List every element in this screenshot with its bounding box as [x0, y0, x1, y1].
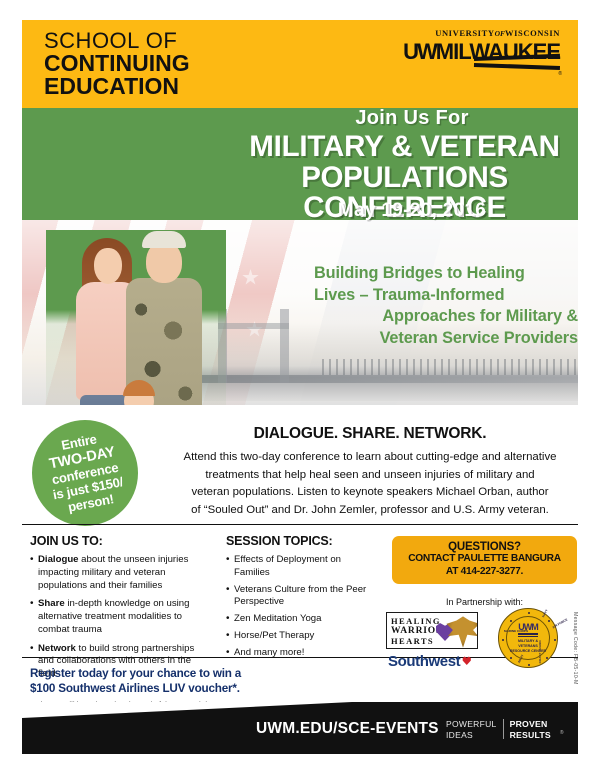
- uwm-registered-mark: ®: [558, 71, 562, 77]
- list-item: Veterans Culture from the Peer Perspecti…: [226, 584, 376, 610]
- sce-logo-line1: SCHOOL OF: [44, 30, 190, 52]
- message-code-label: Message Code: FB-05-10-M: [566, 612, 578, 712]
- footer-tag1-line1: POWERFUL: [446, 719, 497, 730]
- healing-warrior-hearts-logo: HEALING WARRIOR HEARTS: [386, 612, 478, 649]
- list-item: Horse/Pet Therapy: [226, 630, 376, 643]
- footer-tagline: POWERFUL IDEAS PROVEN RESULTS ®: [446, 719, 564, 741]
- bridge-deck: [172, 375, 578, 383]
- join-item-3-bold: Network: [38, 643, 76, 654]
- register-line-2: $100 Southwest Airlines LUV voucher*.: [30, 681, 310, 696]
- seal-branch-3: NAVY: [541, 609, 548, 618]
- hwh-line-1: HEALING: [391, 616, 453, 626]
- sce-logo-line3: EDUCATION: [44, 75, 190, 98]
- conference-date: May 19-20, 2016: [237, 200, 578, 222]
- list-item: Effects of Deployment on Families: [226, 554, 376, 580]
- uw-word-wisconsin: WISCONSIN: [505, 28, 560, 38]
- school-of-continuing-education-logo: SCHOOL OF CONTINUING EDUCATION: [44, 30, 190, 98]
- list-item: Dialogue about the unseen injuries impac…: [30, 554, 210, 592]
- southwest-heart-icon: [462, 656, 471, 665]
- questions-contact-box: QUESTIONS? CONTACT PAULETTE BANGURA AT 4…: [392, 536, 577, 584]
- header-band: SCHOOL OF CONTINUING EDUCATION UNIVERSIT…: [22, 20, 578, 108]
- military-family-photo: [46, 230, 226, 405]
- uw-word-university: UNIVERSITY: [435, 28, 494, 38]
- uwm-military-veterans-resource-center-seal: MARINE CORPS ARMY NAVY AIR FORCE COAST G…: [498, 608, 558, 668]
- divider-top: [22, 524, 578, 525]
- tagline-line-4: Veteran Service Providers: [314, 328, 578, 350]
- footer-tag2-line1: PROVEN: [510, 719, 551, 730]
- university-of-wisconsin-line: UNIVERSITYofWISCONSIN: [410, 28, 560, 38]
- tagline-line-1: Building Bridges to Healing: [314, 263, 578, 285]
- intro-line-4: of “Souled Out” and Dr. John Zemler, pro…: [150, 502, 590, 520]
- price-burst-badge: Entire TWO-DAY conference is just $150/ …: [23, 411, 147, 535]
- join-us-to-list: Dialogue about the unseen injuries impac…: [30, 554, 210, 681]
- uwm-logo-bars-icon: [474, 57, 560, 70]
- footer-powerful-ideas: POWERFUL IDEAS: [446, 719, 497, 740]
- questions-contact-phone: AT 414-227-3277.: [392, 566, 577, 579]
- uw-monogram: UW: [403, 39, 436, 65]
- footer-registered-mark: ®: [560, 730, 564, 736]
- seal-subtitle: MILITARY & VETERANS RESOURCE CENTER: [508, 639, 548, 654]
- intro-paragraph: Attend this two-day conference to learn …: [150, 449, 590, 520]
- in-partnership-with-label: In Partnership with:: [392, 597, 577, 607]
- seal-uwm-bars-icon: [518, 632, 538, 637]
- register-line-1: Register today for your chance to win a: [30, 666, 310, 681]
- conference-tagline: Building Bridges to Healing Lives – Trau…: [314, 263, 578, 349]
- southwest-airlines-logo: Southwest: [388, 653, 498, 671]
- bridge-tower-right: [280, 309, 289, 383]
- intro-line-1: Attend this two-day conference to learn …: [150, 449, 590, 467]
- join-item-2-bold: Share: [38, 598, 65, 609]
- session-topics-heading: SESSION TOPICS:: [226, 534, 376, 548]
- session-topics-list: Effects of Deployment on Families Vetera…: [226, 554, 376, 659]
- flyer-page: Join Us For MILITARY & VETERAN POPULATIO…: [0, 0, 600, 776]
- sce-logo-line2: CONTINUING: [44, 52, 190, 75]
- southwest-wordmark: Southwest: [388, 653, 460, 670]
- join-item-1-bold: Dialogue: [38, 554, 79, 565]
- footer-tag1-line2: IDEAS: [446, 730, 497, 741]
- join-us-to-column: JOIN US TO: Dialogue about the unseen in…: [30, 534, 210, 687]
- intro-line-3: veteran populations. Listen to keynote s…: [150, 484, 590, 502]
- bridge-crossbeam: [218, 323, 289, 329]
- join-us-to-heading: JOIN US TO:: [30, 534, 210, 548]
- footer-diagonal-notch: [22, 702, 352, 718]
- footer-tag2-line2: RESULTS: [510, 730, 551, 741]
- join-us-label: Join Us For: [237, 107, 578, 130]
- tagline-line-2: Lives – Trauma-Informed: [314, 285, 578, 307]
- footer-proven-results: PROVEN RESULTS: [510, 719, 551, 741]
- questions-contact-name: CONTACT PAULETTE BANGURA: [392, 553, 577, 566]
- uw-word-of: of: [495, 29, 505, 38]
- hero-banner: Join Us For MILITARY & VETERAN POPULATIO…: [22, 60, 578, 405]
- seal-uwm-monogram: UWM: [518, 622, 538, 632]
- session-topics-column: SESSION TOPICS: Effects of Deployment on…: [226, 534, 376, 663]
- footer-band: UWM.EDU/SCE-EVENTS POWERFUL IDEAS PROVEN…: [22, 702, 578, 754]
- seal-subtitle-line2: RESOURCE CENTER: [508, 649, 548, 654]
- footer-website-url[interactable]: UWM.EDU/SCE-EVENTS: [256, 720, 439, 738]
- intro-line-2: treatments that help heal seen and unsee…: [150, 467, 590, 485]
- list-item: Share in-depth knowledge on using altern…: [30, 598, 210, 636]
- list-item: Zen Meditation Yoga: [226, 613, 376, 626]
- bridge-railing: [322, 359, 578, 375]
- list-item: And many more!: [226, 647, 376, 660]
- seal-subtitle-line1: MILITARY & VETERANS: [508, 639, 548, 649]
- conference-title-line1: MILITARY & VETERAN: [217, 132, 578, 163]
- dialogue-share-network-headline: DIALOGUE. SHARE. NETWORK.: [150, 425, 590, 443]
- questions-heading: QUESTIONS?: [392, 541, 577, 553]
- footer-tagline-divider: [503, 719, 504, 739]
- tagline-line-3: Approaches for Military &: [314, 306, 578, 328]
